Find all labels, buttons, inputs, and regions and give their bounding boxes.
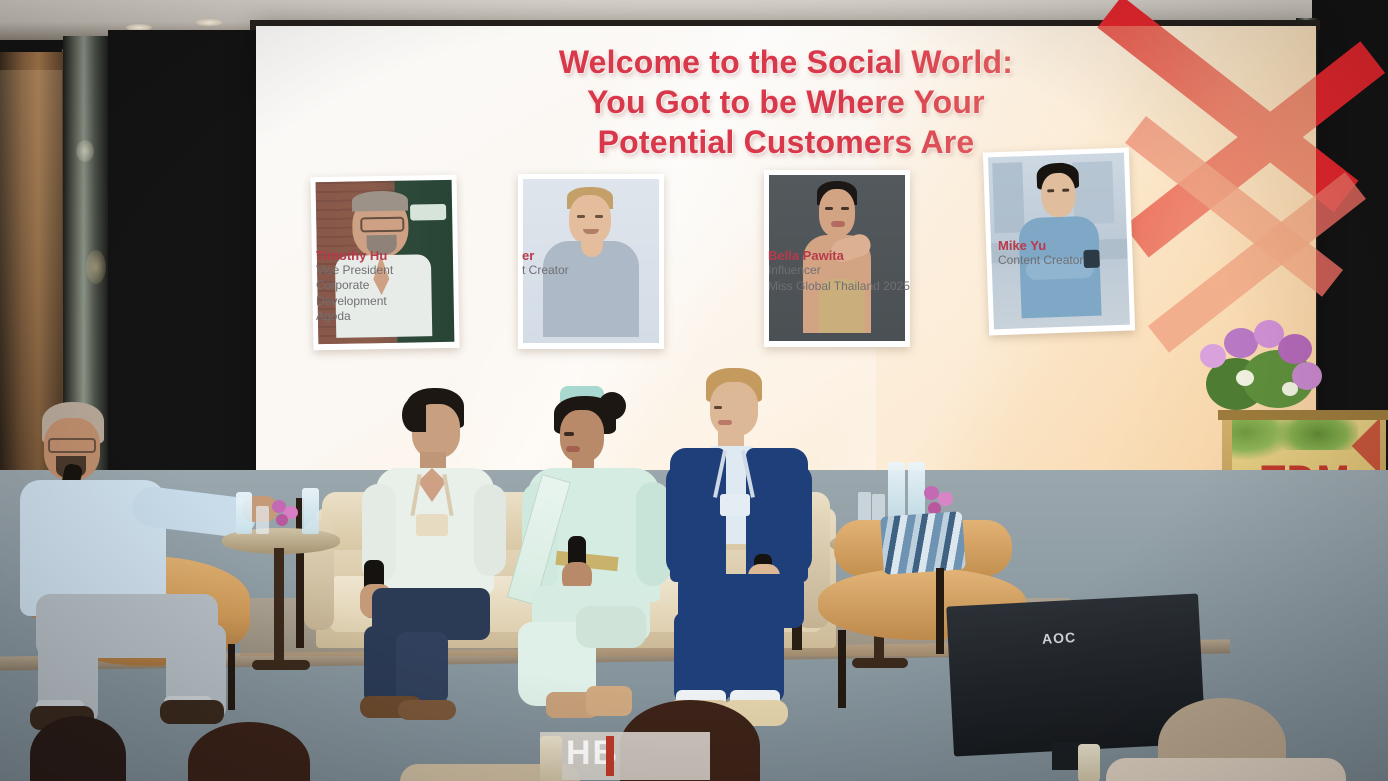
audience-shoulder [1106, 758, 1346, 781]
speaker-name: Timothy Hu [316, 248, 466, 263]
speaker-name: Mike Yu [998, 238, 1178, 253]
speaker-caption: Timothy Hu Vice President Corporate Deve… [316, 248, 466, 324]
speaker-caption: Mike Yu Content Creator [998, 238, 1178, 267]
ceiling-light [196, 19, 222, 26]
speaker-role-line: Vice President [316, 263, 466, 278]
panelist-miss-global-sash [512, 386, 682, 722]
moderator-with-microphone [14, 400, 264, 730]
foreground-water-bottle [1078, 744, 1100, 781]
podium-leaf-decor [1278, 420, 1358, 450]
speaker-name: Bella Pawita [768, 248, 998, 263]
foreground-banner-accent [606, 736, 614, 776]
speaker-role-line: Agoda [316, 309, 466, 324]
speaker-role-line: t Creator [522, 263, 672, 277]
panelist-white-shirt [358, 388, 508, 718]
cushion-pillow [880, 511, 966, 575]
monitor-brand-label: AOC [1042, 629, 1077, 647]
speaker-caption: Bella Pawita Influencer Miss Global Thai… [768, 248, 998, 294]
water-bottle [888, 462, 905, 518]
table-leg [274, 548, 284, 664]
wall-highlight-left [76, 140, 94, 162]
speaker-role-line: Corporate [316, 278, 466, 293]
speaker-role-line: Development [316, 294, 466, 309]
water-bottle [236, 492, 252, 534]
foreground-water-bottle [540, 736, 562, 781]
speaker-role-line: Influencer [768, 263, 998, 279]
water-bottle [302, 488, 319, 534]
speaker-caption: er t Creator [522, 248, 672, 277]
conference-panel-photo: Welcome to the Social World: You Got to … [0, 0, 1388, 781]
drinking-glass [256, 506, 269, 534]
table-base [252, 660, 310, 670]
flower-arrangement [1196, 312, 1336, 422]
speaker-role-line: Miss Global Thailand 2025 [768, 279, 998, 295]
wall-highlight-left-2 [86, 250, 106, 284]
speaker-role-line: Content Creator [998, 253, 1178, 267]
panelist-navy-blazer [662, 368, 822, 726]
speaker-name: er [522, 248, 672, 263]
orchid-vase [270, 500, 300, 534]
